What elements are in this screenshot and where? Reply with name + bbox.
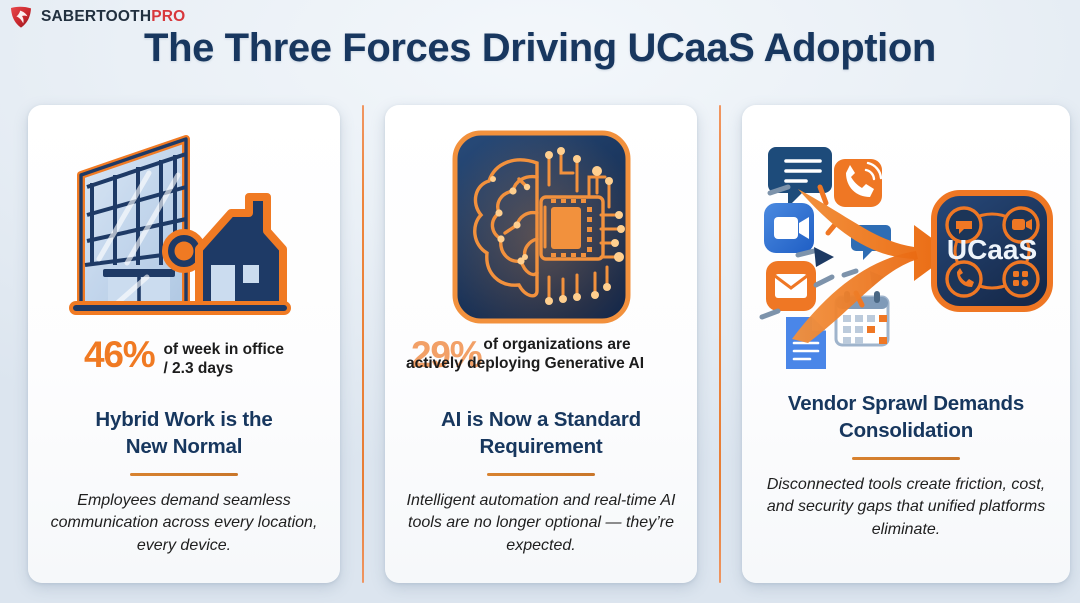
brand-name-main: SABERTOOTH xyxy=(41,8,151,25)
card-heading-line2: New Normal xyxy=(126,435,242,458)
column-divider-2 xyxy=(697,105,742,583)
heading-divider xyxy=(487,473,595,476)
card-heading-line1: AI is Now a Standard xyxy=(441,408,641,431)
card-heading-line1: Hybrid Work is the xyxy=(95,408,272,431)
stat-description-line2: / 2.3 days xyxy=(163,360,233,377)
ucaas-platform-icon: UCaaS xyxy=(934,193,1050,309)
card-body-text: Intelligent automation and real-time AI … xyxy=(399,490,683,558)
stat-number: 46% xyxy=(84,336,154,374)
stat-description: of week in office / 2.3 days xyxy=(163,336,284,379)
house-icon xyxy=(199,197,283,307)
brand-name-accent: PRO xyxy=(151,8,185,25)
card-heading-line1: Vendor Sprawl Demands xyxy=(788,392,1024,415)
card-heading-line2: Consolidation xyxy=(839,419,973,442)
stat-description-line1: of week in office xyxy=(163,341,284,358)
page-title: The Three Forces Driving UCaaS Adoption xyxy=(0,26,1080,71)
stat-hybrid-work: 46% of week in office / 2.3 days xyxy=(42,334,326,392)
phone-call-icon xyxy=(834,159,882,207)
video-camera-icon xyxy=(764,203,814,253)
forces-columns: 46% of week in office / 2.3 days Hybrid … xyxy=(28,105,1052,583)
vendor-consolidation-illustration: UCaaS xyxy=(756,113,1056,386)
heading-divider xyxy=(852,457,960,460)
ucaas-apps-node xyxy=(1004,262,1038,296)
heading-divider xyxy=(130,473,238,476)
office-building-icon xyxy=(81,139,186,307)
card-body-text: Employees demand seamless communication … xyxy=(42,490,326,558)
infographic-page: SABERTOOTHPRO The Three Forces Driving U… xyxy=(0,0,1080,603)
card-heading: Vendor Sprawl Demands Consolidation xyxy=(788,390,1024,444)
stat-ai-adoption: 29% of organizations are actively deploy… xyxy=(399,334,683,392)
ai-brain-chip-illustration xyxy=(399,119,683,334)
card-heading: AI is Now a Standard Requirement xyxy=(441,406,641,460)
card-heading-line2: Requirement xyxy=(479,435,602,458)
force-card-ai-standard: 29% of organizations are actively deploy… xyxy=(385,105,697,583)
stat-description-line2: actively deploying Generative AI xyxy=(367,355,683,374)
brand-wordmark: SABERTOOTHPRO xyxy=(41,8,185,26)
hybrid-work-illustration xyxy=(42,119,326,334)
vertical-divider-line xyxy=(362,105,364,583)
force-card-vendor-sprawl: UCaaS Vendor Sprawl Demands Consolidatio… xyxy=(742,105,1070,583)
ucaas-platform-label: UCaaS xyxy=(947,234,1037,265)
ucaas-phone-node xyxy=(947,262,981,296)
email-envelope-icon xyxy=(766,261,816,311)
stat-description-line1: of organizations are xyxy=(483,336,630,353)
vertical-divider-line xyxy=(719,105,721,583)
card-body-text: Disconnected tools create friction, cost… xyxy=(756,474,1056,542)
card-heading: Hybrid Work is the New Normal xyxy=(95,406,272,460)
force-card-hybrid-work: 46% of week in office / 2.3 days Hybrid … xyxy=(28,105,340,583)
column-divider-1 xyxy=(340,105,385,583)
